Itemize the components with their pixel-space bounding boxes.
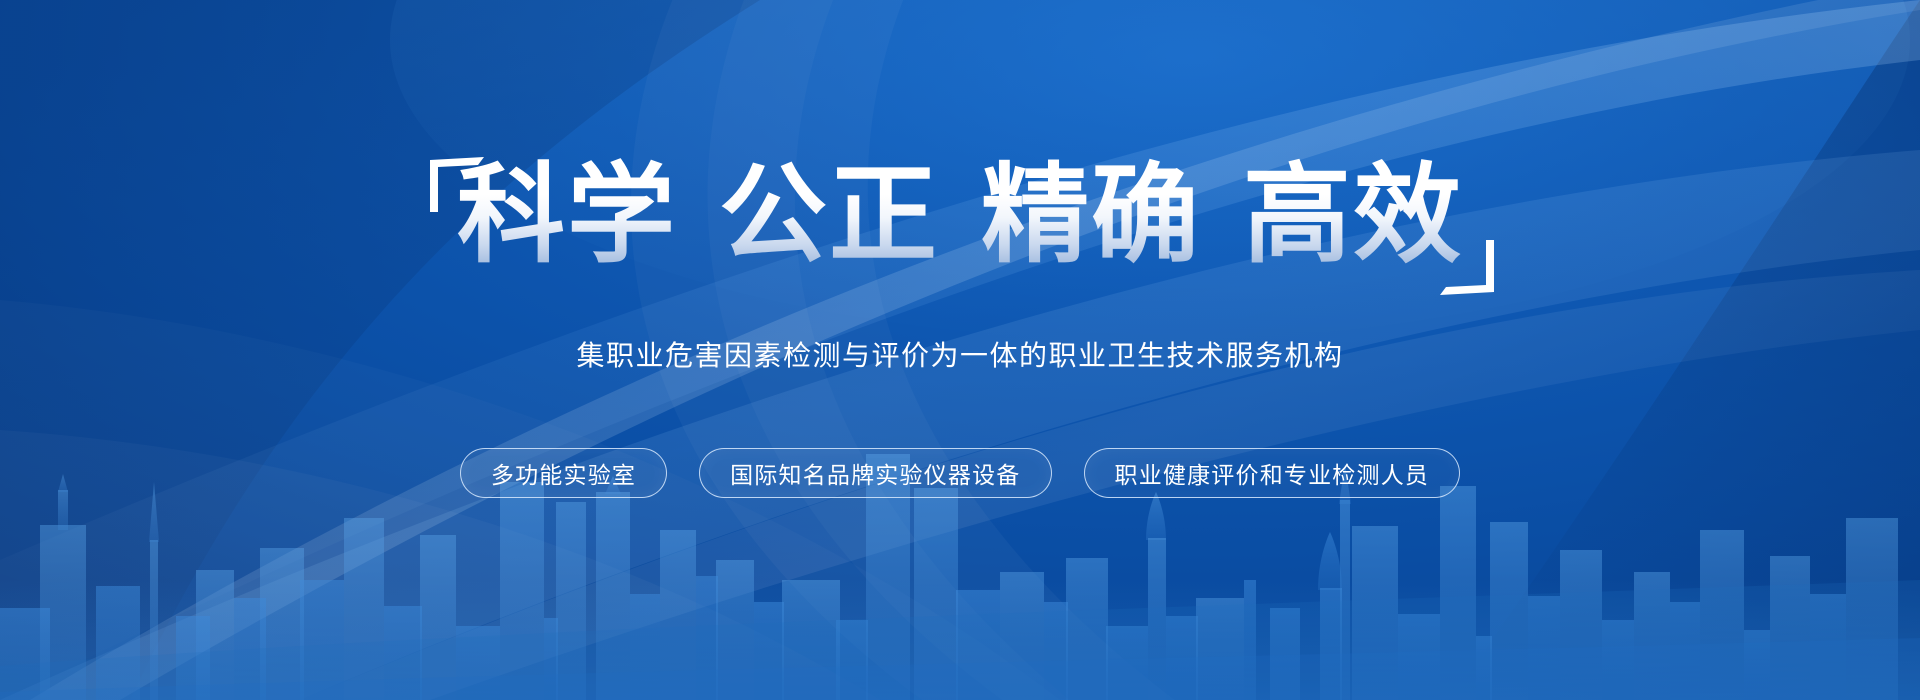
banner-content: 科学公正精确高效 集职业危害因素检测与评价为一体的职业卫生技术服务机构 多功能实… xyxy=(0,0,1920,700)
feature-pill-row: 多功能实验室 国际知名品牌实验仪器设备 职业健康评价和专业检测人员 xyxy=(0,448,1920,498)
feature-pill-2[interactable]: 国际知名品牌实验仪器设备 xyxy=(699,448,1051,498)
headline-block: 科学公正精确高效 xyxy=(420,152,1500,282)
corner-bracket-close-icon xyxy=(1438,238,1496,296)
feature-pill-1[interactable]: 多功能实验室 xyxy=(460,448,667,498)
promo-banner: 科学公正精确高效 集职业危害因素检测与评价为一体的职业卫生技术服务机构 多功能实… xyxy=(0,0,1920,700)
headline-word-2: 公正 xyxy=(719,154,939,275)
headline-word-4: 高效 xyxy=(1243,154,1463,275)
feature-pill-2-label: 国际知名品牌实验仪器设备 xyxy=(730,456,1020,490)
headline-word-3: 精确 xyxy=(981,154,1201,275)
headline-word-1: 科学 xyxy=(457,154,677,275)
feature-pill-3[interactable]: 职业健康评价和专业检测人员 xyxy=(1084,448,1461,498)
page-title: 科学公正精确高效 xyxy=(420,152,1500,278)
feature-pill-3-label: 职业健康评价和专业检测人员 xyxy=(1115,456,1430,490)
feature-pill-1-label: 多功能实验室 xyxy=(491,456,636,490)
banner-subtitle: 集职业危害因素检测与评价为一体的职业卫生技术服务机构 xyxy=(0,336,1920,376)
